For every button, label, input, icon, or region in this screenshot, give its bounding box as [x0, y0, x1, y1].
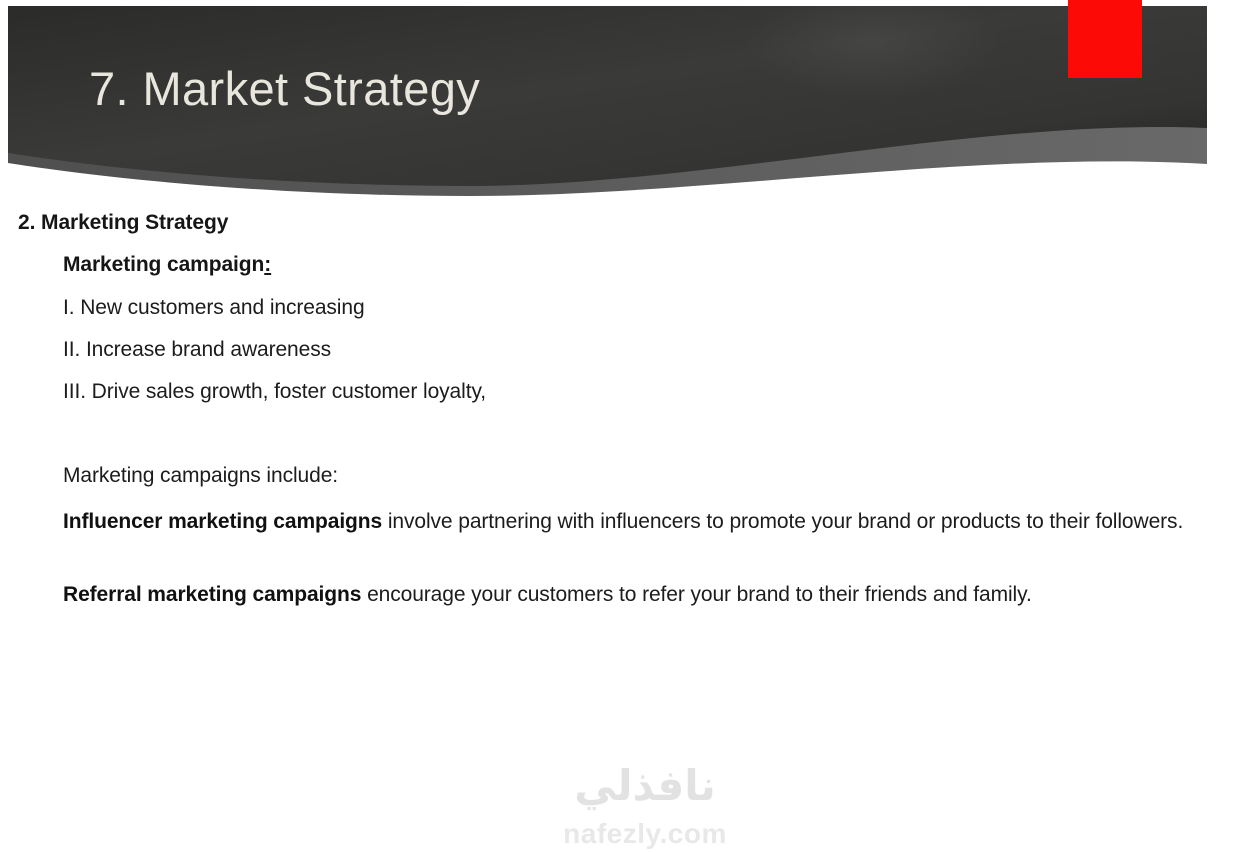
slide-canvas: 7. Market Strategy نافذلي nafezly.com 2.…	[0, 0, 1235, 652]
red-accent-rectangle	[1068, 0, 1142, 78]
body-subheading-colon: :	[264, 253, 271, 276]
campaign-paragraph-referral-term: Referral marketing campaigns	[63, 583, 361, 606]
body-subheading: Marketing campaign:	[63, 253, 271, 277]
campaign-paragraph-referral-body: encourage your customers to refer your b…	[361, 583, 1031, 606]
campaign-paragraph-influencer-term: Influencer marketing campaigns	[63, 510, 382, 533]
campaign-paragraph-influencer: Influencer marketing campaigns involve p…	[63, 506, 1208, 537]
numbered-item-3: III. Drive sales growth, foster customer…	[63, 380, 486, 404]
campaigns-intro-line: Marketing campaigns include:	[63, 464, 338, 488]
campaign-paragraph-influencer-body: involve partnering with influencers to p…	[382, 510, 1183, 533]
body-subheading-text: Marketing campaign	[63, 253, 264, 276]
watermark-latin-text: nafezly.com	[540, 818, 750, 850]
slide-body: نافذلي nafezly.com 2. Marketing Strategy…	[0, 200, 1235, 652]
nafezly-watermark: نافذلي nafezly.com	[540, 760, 750, 852]
slide-header-banner: 7. Market Strategy	[0, 0, 1235, 200]
slide-title: 7. Market Strategy	[89, 62, 480, 116]
numbered-item-2: II. Increase brand awareness	[63, 338, 331, 362]
watermark-arabic-text: نافذلي	[540, 760, 750, 812]
numbered-item-1: I. New customers and increasing	[63, 296, 365, 320]
body-heading: 2. Marketing Strategy	[18, 211, 228, 235]
campaign-paragraph-referral: Referral marketing campaigns encourage y…	[63, 579, 1208, 610]
